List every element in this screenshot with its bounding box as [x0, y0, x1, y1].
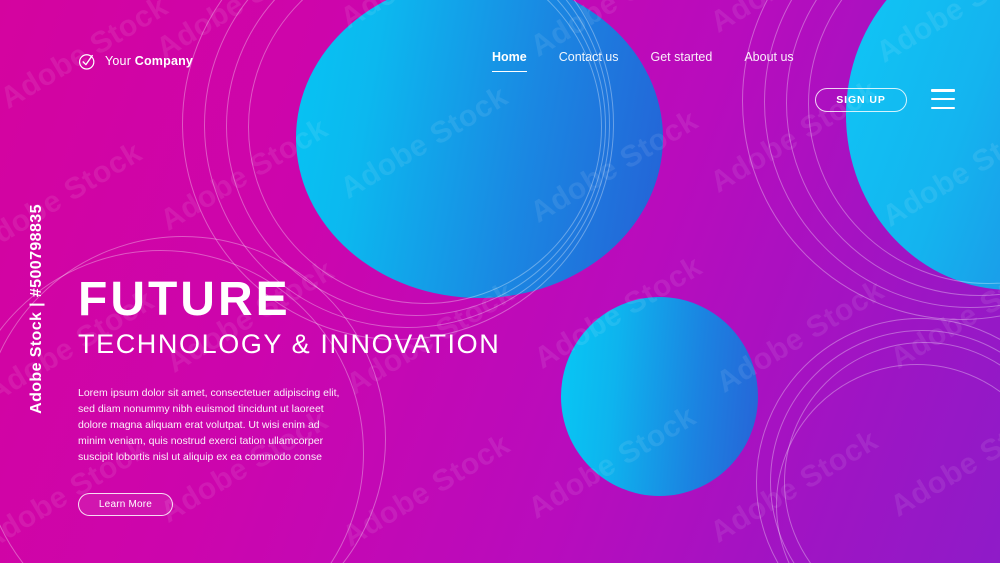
nav-item-about-us[interactable]: About us	[744, 50, 793, 72]
nav-item-get-started[interactable]: Get started	[651, 50, 713, 72]
hero-subtitle: TECHNOLOGY & INNOVATION	[78, 330, 548, 358]
hamburger-bar	[931, 98, 955, 101]
hero-title: FUTURE	[78, 276, 548, 325]
hamburger-bar	[931, 107, 955, 110]
site-header: Your Company Home Contact us Get started…	[0, 40, 1000, 82]
landing-page-hero: Adobe Stock Adobe Stock Adobe Stock Adob…	[0, 0, 1000, 563]
hamburger-bar	[931, 89, 955, 92]
circle-check-icon	[78, 52, 97, 71]
sign-up-button[interactable]: SIGN UP	[815, 88, 907, 112]
brand-name-bold: Company	[135, 54, 193, 68]
primary-navigation: Home Contact us Get started About us	[492, 50, 826, 72]
stock-credit-label: Adobe Stock | #500798835	[28, 184, 46, 434]
brand-logo[interactable]: Your Company	[78, 52, 193, 71]
brand-name: Your Company	[105, 54, 193, 68]
hamburger-menu-icon[interactable]	[931, 89, 955, 109]
nav-item-home[interactable]: Home	[492, 50, 527, 72]
hero-paragraph: Lorem ipsum dolor sit amet, consectetuer…	[78, 386, 346, 466]
learn-more-button[interactable]: Learn More	[78, 493, 173, 516]
brand-name-light: Your	[105, 54, 135, 68]
nav-item-contact-us[interactable]: Contact us	[559, 50, 619, 72]
hero-content: FUTURE TECHNOLOGY & INNOVATION Lorem ips…	[78, 276, 548, 516]
